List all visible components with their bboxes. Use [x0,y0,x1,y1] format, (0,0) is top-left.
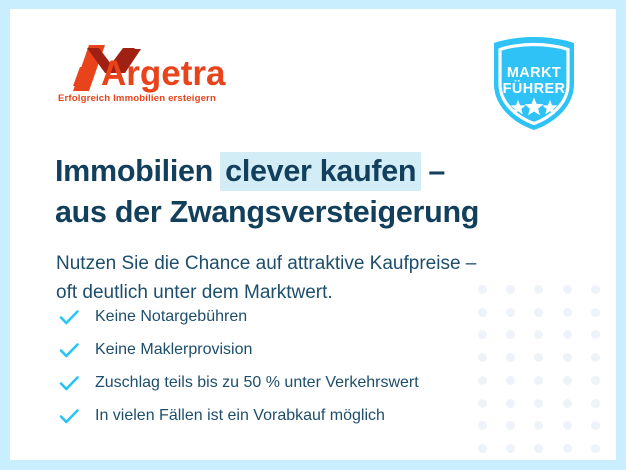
headline-text-after: – [420,154,445,188]
dot [534,308,543,317]
check-icon [58,372,80,394]
logo-tagline: Erfolgreich Immobilien ersteigern [58,93,216,104]
dot [534,376,543,385]
dot [591,444,600,453]
dot [563,421,572,430]
dot [591,376,600,385]
dot [563,353,572,362]
dot [563,285,572,294]
headline-line-2: aus der Zwangsversteigerung [55,192,535,232]
check-icon [58,405,80,427]
logo-wordmark: Argetra [101,54,226,93]
banner-content-area: Argetra Erfolgreich Immobilien ersteiger… [10,9,616,460]
argetra-logo[interactable]: Argetra Erfolgreich Immobilien ersteiger… [55,43,245,105]
dot [591,421,600,430]
list-item: Keine Notargebühren [58,301,528,332]
headline-line-1: Immobilien clever kaufen – [55,151,535,191]
headline-highlight: clever kaufen [220,152,421,191]
dot [563,444,572,453]
dot [534,421,543,430]
dot [534,399,543,408]
benefit-label: In vielen Fällen ist ein Vorabkauf mögli… [95,408,385,424]
badge-line2: FÜHRER [503,80,566,97]
check-icon [58,339,80,361]
list-item: Zuschlag teils bis zu 50 % unter Verkehr… [58,367,528,398]
dot [563,376,572,385]
dot [563,308,572,317]
promo-banner: Argetra Erfolgreich Immobilien ersteiger… [0,0,626,470]
headline: Immobilien clever kaufen – aus der Zwang… [55,151,535,232]
list-item: Keine Maklerprovision [58,334,528,365]
dot [534,444,543,453]
dot [534,353,543,362]
dot [563,399,572,408]
check-icon [58,306,80,328]
benefit-label: Keine Maklerprovision [95,342,252,358]
badge-line1: MARKT [507,65,561,81]
dot [534,330,543,339]
dot [591,330,600,339]
subheadline-line-1: Nutzen Sie die Chance auf attraktive Kau… [56,250,556,279]
dot [591,308,600,317]
benefits-list: Keine Notargebühren Keine Maklerprovisio… [58,301,528,433]
dot [506,444,515,453]
benefit-label: Keine Notargebühren [95,309,247,325]
markt-fuehrer-badge: MARKT FÜHRER [488,36,580,132]
list-item: In vielen Fällen ist ein Vorabkauf mögli… [58,400,528,431]
dot [591,399,600,408]
dot [591,353,600,362]
benefit-label: Zuschlag teils bis zu 50 % unter Verkehr… [95,375,419,391]
dot [591,285,600,294]
dot [563,330,572,339]
headline-text-before: Immobilien [55,154,221,188]
dot [478,444,487,453]
subheadline: Nutzen Sie die Chance auf attraktive Kau… [56,250,556,308]
